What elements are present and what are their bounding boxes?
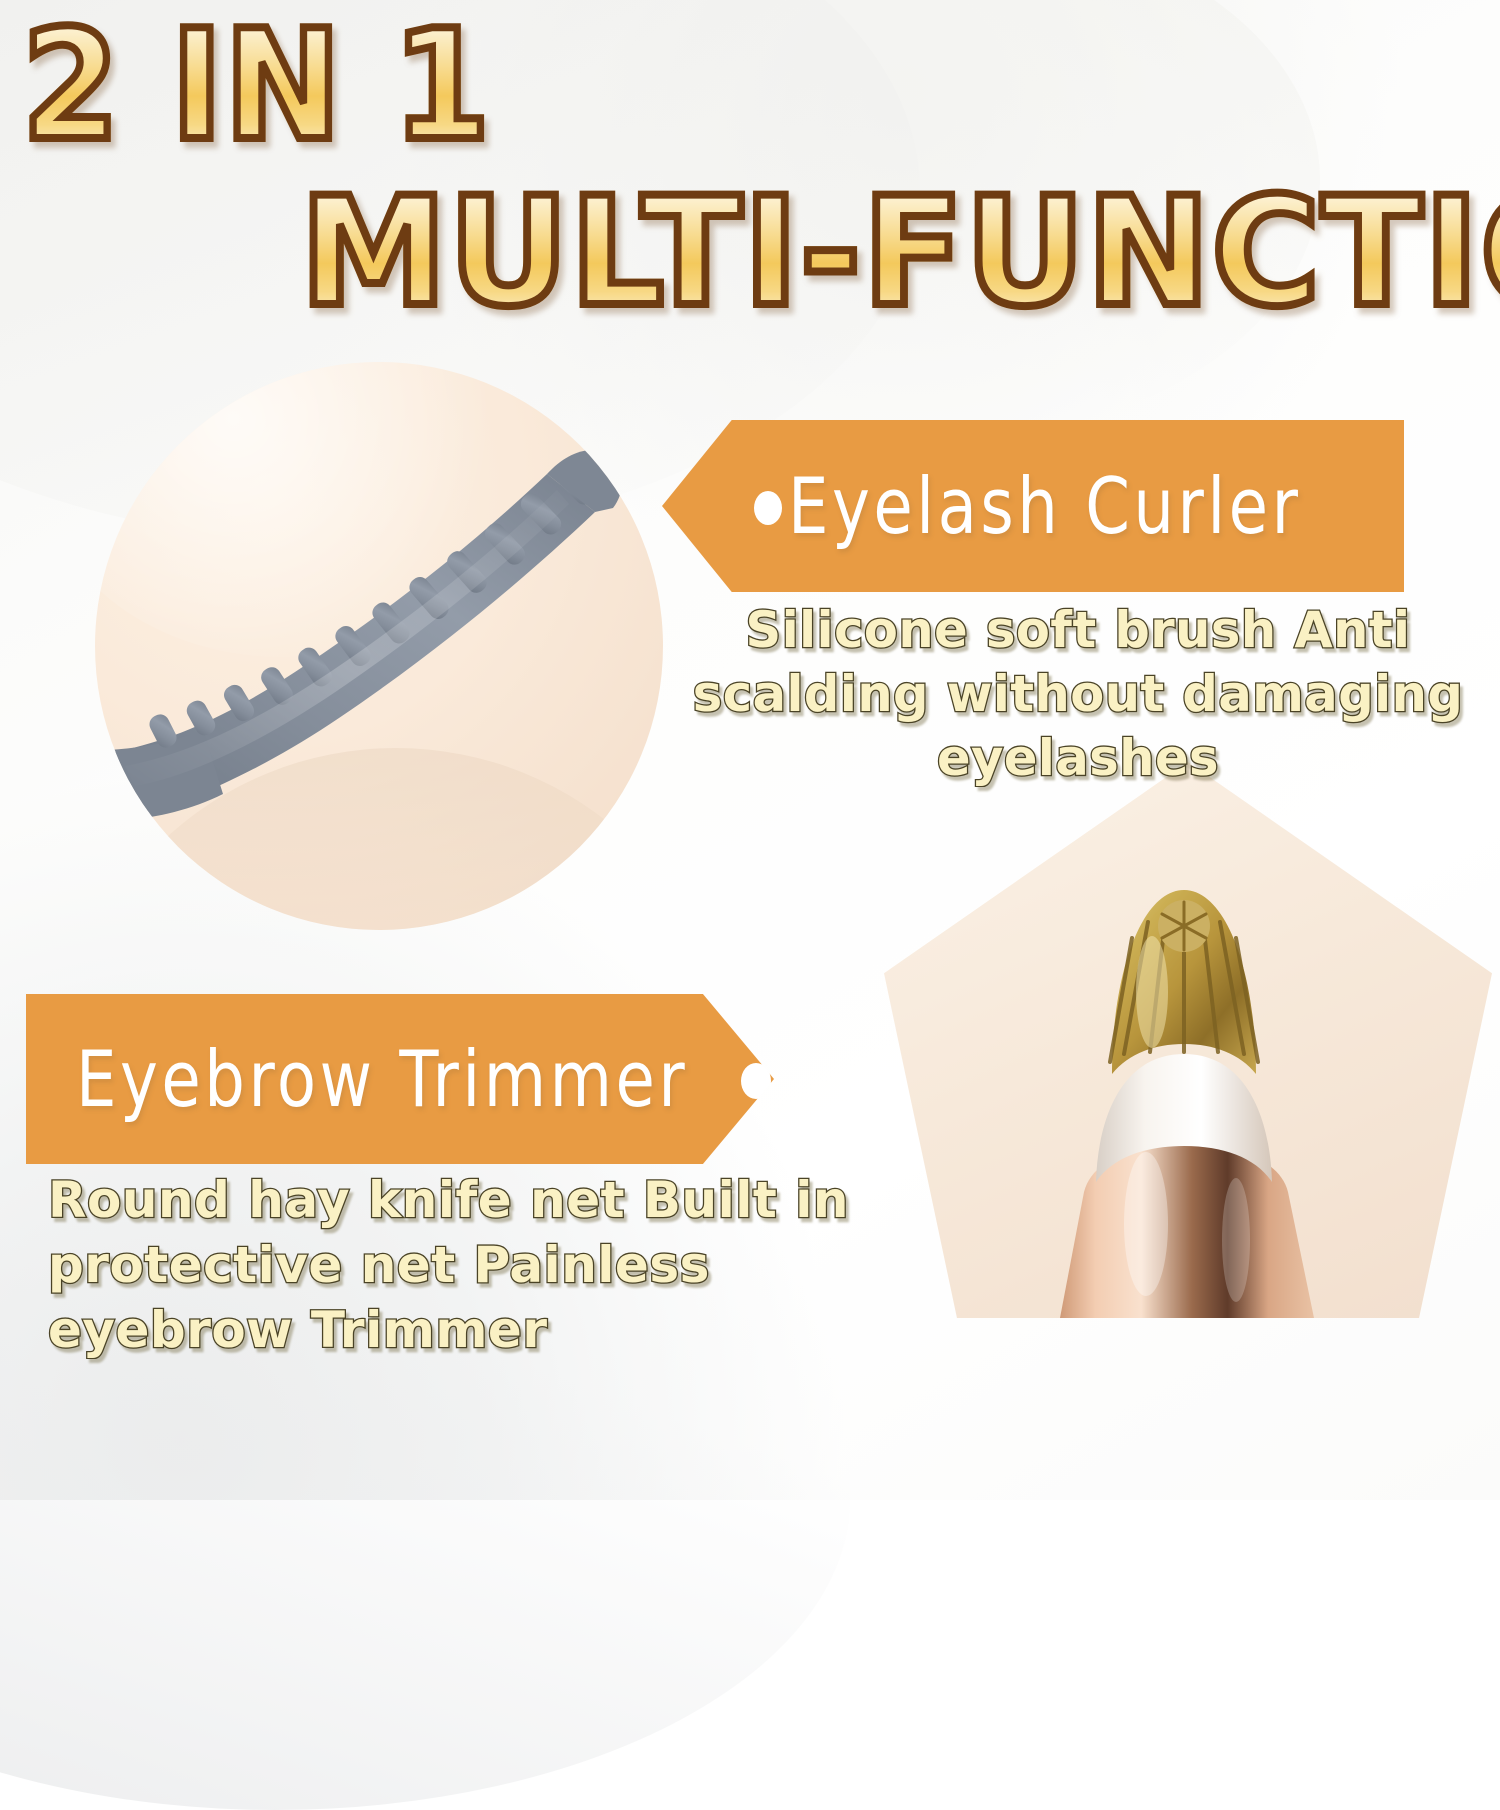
headline-line-2: MULTI-FUNCTION bbox=[300, 176, 1500, 330]
headline-line-1-text: 2 IN 1 bbox=[22, 0, 491, 174]
eyebrow-trimmer-banner[interactable]: Eyebrow Trimmer bbox=[26, 994, 774, 1164]
trimmer-head-illustration bbox=[884, 762, 1492, 1318]
eyelash-curler-description: Silicone soft brush Anti scalding withou… bbox=[680, 598, 1476, 790]
eyebrow-trimmer-description: Round hay knife net Built in protective … bbox=[48, 1168, 868, 1363]
eyelash-curler-photo bbox=[95, 362, 663, 930]
eyebrow-trimmer-banner-label: Eyebrow Trimmer bbox=[76, 1034, 688, 1125]
bullet-dot-icon bbox=[754, 491, 782, 525]
headline-line-1: 2 IN 1 bbox=[22, 6, 491, 167]
silicone-comb-illustration bbox=[95, 362, 663, 930]
infographic-canvas: 2 IN 1 MULTI-FUNCTION bbox=[0, 0, 1500, 1500]
background-swoosh-top-right bbox=[560, 0, 1320, 440]
eyelash-curler-banner-label: Eyelash Curler bbox=[788, 461, 1301, 552]
headline-line-2-text: MULTI-FUNCTION bbox=[300, 166, 1500, 340]
bullet-dot-icon bbox=[741, 1063, 771, 1099]
eyebrow-trimmer-photo bbox=[884, 762, 1492, 1318]
eyelash-curler-banner[interactable]: Eyelash Curler bbox=[662, 420, 1404, 592]
